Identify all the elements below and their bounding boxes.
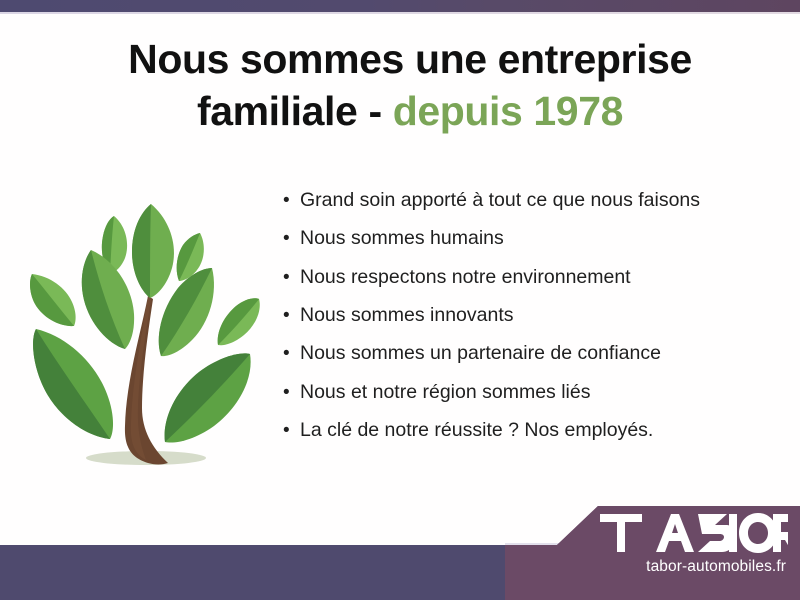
bullet-marker-icon: • (283, 191, 300, 210)
list-item: • Grand soin apporté à tout ce que nous … (283, 190, 763, 212)
list-item-label: Nous respectons notre environnement (300, 267, 631, 289)
title-line-1: Nous sommes une entreprise (128, 36, 692, 82)
list-item: • Nous sommes humains (283, 228, 763, 250)
list-item-label: La clé de notre réussite ? Nos employés. (300, 420, 653, 442)
value-bullet-list: • Grand soin apporté à tout ce que nous … (283, 190, 763, 458)
page-title: Nous sommes une entreprise familiale - d… (60, 34, 760, 137)
list-item: • Nous sommes un partenaire de confiance (283, 343, 763, 365)
logo-website-url[interactable]: tabor-automobiles.fr (598, 558, 786, 576)
bullet-marker-icon: • (283, 421, 300, 440)
list-item-label: Nous sommes humains (300, 228, 504, 250)
tree-leaf-mid-left (82, 250, 134, 349)
title-line-2: familiale - depuis 1978 (60, 86, 760, 138)
title-accent-since-1978: depuis 1978 (393, 88, 623, 134)
bullet-marker-icon: • (283, 229, 300, 248)
tree-illustration (22, 186, 272, 486)
tree-leaf-far-right-small (218, 298, 260, 345)
logo-wordmark (598, 511, 788, 555)
bullet-marker-icon: • (283, 344, 300, 363)
list-item-label: Nous et notre région sommes liés (300, 382, 590, 404)
logo-letter-r (773, 514, 788, 552)
footer-left-band-fill (0, 545, 505, 600)
bullet-marker-icon: • (283, 383, 300, 402)
top-hairline-divider (0, 12, 800, 14)
list-item: • La clé de notre réussite ? Nos employé… (283, 420, 763, 442)
top-accent-band (0, 0, 800, 12)
logo-letter-b (698, 514, 737, 552)
logo-letter-a (656, 514, 694, 552)
list-item: • Nous sommes innovants (283, 305, 763, 327)
tree-leaf-lower-right-big (165, 353, 251, 442)
list-item-label: Grand soin apporté à tout ce que nous fa… (300, 190, 700, 212)
logo-letter-t (600, 514, 642, 552)
bullet-marker-icon: • (283, 306, 300, 325)
list-item: • Nous et notre région sommes liés (283, 382, 763, 404)
slide-canvas: Nous sommes une entreprise familiale - d… (0, 0, 800, 600)
footer-notch-white-cut-2 (0, 500, 505, 545)
list-item-label: Nous sommes innovants (300, 305, 514, 327)
list-item: • Nous respectons notre environnement (283, 267, 763, 289)
list-item-label: Nous sommes un partenaire de confiance (300, 343, 661, 365)
logo-letter-o (739, 513, 777, 553)
tabor-logo[interactable]: tabor-automobiles.fr (598, 511, 788, 591)
bullet-marker-icon: • (283, 268, 300, 287)
tree-leaf-far-left-small (30, 274, 76, 326)
tree-leaf-top-center (132, 204, 174, 298)
tree-leaf-lower-left-big (33, 329, 113, 439)
tree-leaf-mid-right (159, 268, 214, 356)
title-line-2-black: familiale - (197, 88, 393, 134)
